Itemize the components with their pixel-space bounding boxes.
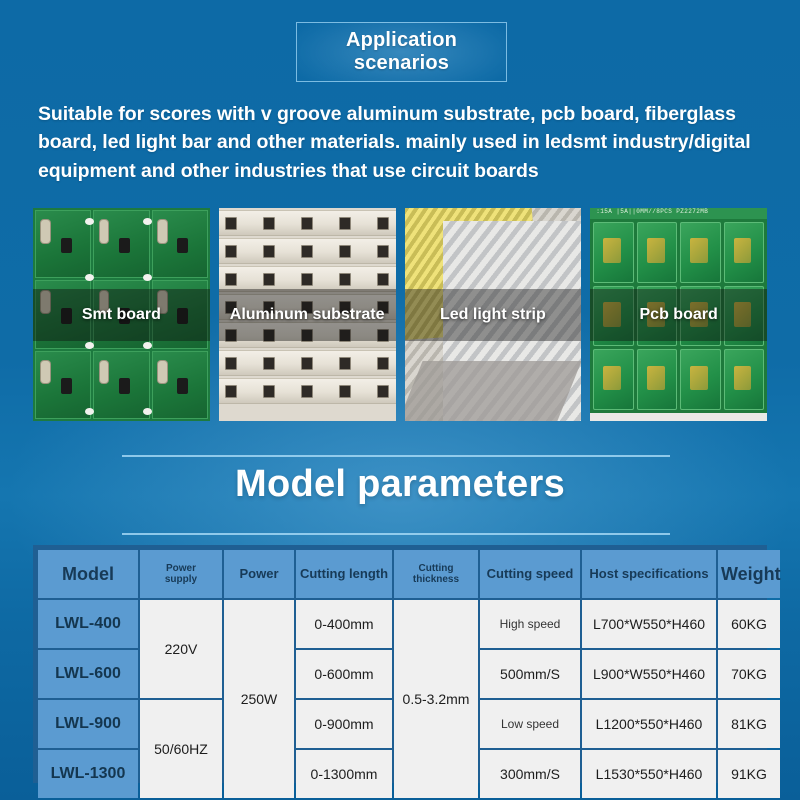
cell-host-specifications: L1530*550*H460 (582, 750, 716, 798)
badge-line-2: scenarios (354, 52, 449, 74)
pcb-module (724, 222, 764, 283)
pcb-board-edge (590, 413, 767, 421)
cell-model: LWL-400 (38, 600, 138, 648)
photo-caption: Smt board (33, 305, 210, 323)
cell-speed-low-value: 300mm/S (480, 750, 580, 798)
pcb-silkscreen-text: :15A |5A||0MM//8PCS PZ2272MB (596, 208, 708, 215)
smt-pad (85, 218, 94, 225)
pcb-module (680, 349, 720, 410)
table-header-row: Model Powersupply Power Cutting length C… (38, 550, 780, 598)
th-power-supply-l2: supply (165, 574, 197, 585)
cell-power-supply-freq: 50/60HZ (140, 700, 222, 798)
cell-weight: 81KG (718, 700, 780, 748)
pcb-module (724, 349, 764, 410)
pcb-module (593, 222, 633, 283)
badge-text: Applicationscenarios (346, 29, 457, 75)
cell-speed-high-label: High speed (480, 600, 580, 648)
section-rule-bottom (122, 533, 670, 535)
smt-pad (143, 274, 152, 281)
photo-caption: Led light strip (405, 305, 582, 323)
cell-power: 250W (224, 600, 294, 798)
pcb-module (680, 222, 720, 283)
smt-module (152, 210, 208, 278)
cell-speed-low-label: Low speed (480, 700, 580, 748)
section-rule-top (122, 455, 670, 457)
cell-power-supply-voltage: 220V (140, 600, 222, 698)
smt-board-photo: Smt board (33, 208, 210, 421)
photo-caption: Pcb board (590, 305, 767, 323)
cell-cutting-length: 0-400mm (296, 600, 392, 648)
cell-speed-high-value: 500mm/S (480, 650, 580, 698)
pcb-module (593, 349, 633, 410)
model-parameters-table-wrapper: Model Powersupply Power Cutting length C… (33, 545, 767, 783)
photo-caption: Aluminum substrate (219, 305, 396, 323)
smt-pad (85, 408, 94, 415)
cell-weight: 70KG (718, 650, 780, 698)
th-model: Model (38, 550, 138, 598)
cell-host-specifications: L900*W550*H460 (582, 650, 716, 698)
smt-pad (143, 342, 152, 349)
badge-line-1: Application (346, 29, 457, 51)
th-power-supply: Powersupply (140, 550, 222, 598)
smt-module (152, 351, 208, 419)
th-host-specifications: Host specifications (582, 550, 716, 598)
th-power: Power (224, 550, 294, 598)
th-cutting-speed: Cutting speed (480, 550, 580, 598)
led-light-strip-photo: Led light strip (405, 208, 582, 421)
poster-canvas: Applicationscenarios Suitable for scores… (0, 0, 800, 800)
smt-pad (85, 274, 94, 281)
section-title: Model parameters (0, 463, 800, 506)
th-cutting-length: Cutting length (296, 550, 392, 598)
th-power-supply-l1: Power (166, 563, 196, 574)
description-paragraph: Suitable for scores with v groove alumin… (38, 100, 768, 185)
pcb-silkscreen-strip: :15A |5A||0MM//8PCS PZ2272MB (590, 208, 767, 219)
cell-model: LWL-600 (38, 650, 138, 698)
cell-cutting-length: 0-600mm (296, 650, 392, 698)
smt-module (93, 351, 149, 419)
application-scenarios-badge: Applicationscenarios (296, 22, 507, 82)
smt-module (35, 210, 91, 278)
cell-model: LWL-1300 (38, 750, 138, 798)
smt-pad (85, 342, 94, 349)
smt-module (93, 210, 149, 278)
pcb-module (637, 349, 677, 410)
cell-weight: 91KG (718, 750, 780, 798)
cell-cutting-thickness: 0.5-3.2mm (394, 600, 478, 798)
smt-module (35, 351, 91, 419)
pcb-board-photo: :15A |5A||0MM//8PCS PZ2272MB Pcb board (590, 208, 767, 421)
th-weight: Weight (718, 550, 780, 598)
table-row: LWL-400 220V 250W 0-400mm 0.5-3.2mm High… (38, 600, 780, 648)
th-cutting-thickness: Cutting thickness (394, 550, 478, 598)
cell-cutting-length: 0-900mm (296, 700, 392, 748)
pcb-module (637, 222, 677, 283)
cell-cutting-length: 0-1300mm (296, 750, 392, 798)
model-parameters-table: Model Powersupply Power Cutting length C… (36, 548, 782, 800)
cell-weight: 60KG (718, 600, 780, 648)
cell-model: LWL-900 (38, 700, 138, 748)
application-photo-strip: Smt board Aluminum substrate (33, 208, 767, 421)
smt-pad (143, 218, 152, 225)
cell-host-specifications: L1200*550*H460 (582, 700, 716, 748)
smt-pad (143, 408, 152, 415)
aluminum-substrate-photo: Aluminum substrate (219, 208, 396, 421)
led-strip-shadow (405, 361, 582, 421)
cell-host-specifications: L700*W550*H460 (582, 600, 716, 648)
